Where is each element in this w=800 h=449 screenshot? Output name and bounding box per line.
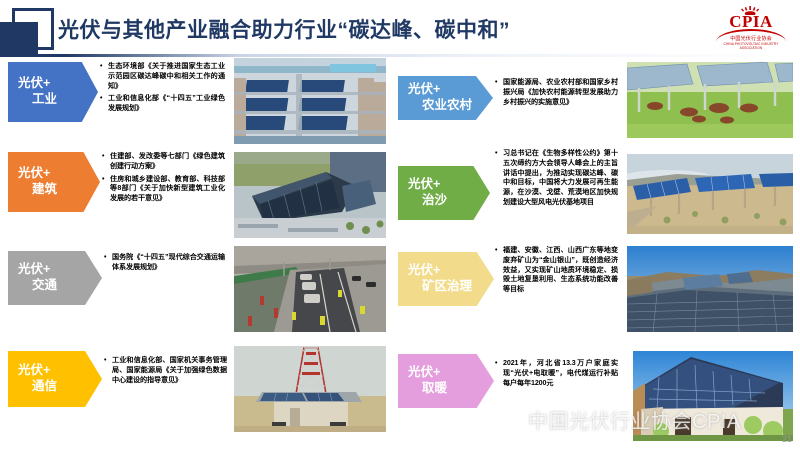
bullet-text: 国务院《“十四五”现代综合交通运输体系发展规划》 — [112, 253, 225, 273]
list-item: • 生态环境部《关于推进国家生态工业示范园区碳达峰碳中和相关工作的通知》 — [100, 62, 225, 91]
bullet-text: 住房和城乡建设部、教育部、科技部等8部门《关于加快新型建筑工业化发展的若干意见》 — [110, 175, 225, 204]
bullet-text: 生态环境部《关于推进国家生态工业示范园区碳达峰碳中和相关工作的通知》 — [108, 62, 225, 91]
chevron-label-line1: 光伏+ — [408, 365, 488, 381]
photo-mine-site-solar — [627, 246, 793, 332]
photo-agrivoltaics-cattle — [627, 62, 793, 138]
bullet-dot: • — [100, 62, 108, 72]
list-item: • 住建部、发改委等七部门《绿色建筑创建行动方案》 — [102, 152, 225, 172]
bullet-text: 习总书记在《生物多样性公约》第十五次缔约方大会领导人峰会上的主旨讲话中提出，为推… — [503, 149, 618, 208]
chevron-pv-industry[interactable]: 光伏+ 工业 — [8, 62, 98, 122]
chevron-label-line1: 光伏+ — [18, 166, 94, 182]
list-item: • 工业和信息化部、国家机关事务管理局、国家能源局《关于加强绿色数据中心建设的指… — [104, 356, 227, 385]
photo-bipv-building — [234, 152, 386, 238]
chevron-shape: 光伏+ 交通 — [8, 251, 102, 305]
bullet-dot: • — [102, 175, 110, 185]
chevron-label-line2: 通信 — [18, 379, 96, 395]
bullets-pv-agriculture: • 国家能源局、农业农村部和国家乡村振兴局《加快农村能源转型发展助力乡村振兴的实… — [495, 78, 618, 110]
photo-industrial-park-rooftop-solar — [234, 58, 386, 144]
chevron-label-line2: 治沙 — [408, 193, 484, 209]
slide-header: 光伏与其他产业融合助力行业“碳达峰、碳中和” CPIA 中国光伏行业协会 CHI… — [0, 0, 800, 56]
chevron-shape: 光伏+ 建筑 — [8, 152, 100, 212]
bullets-pv-desertification: • 习总书记在《生物多样性公约》第十五次缔约方大会领导人峰会上的主旨讲话中提出，… — [495, 149, 618, 211]
chevron-pv-agriculture[interactable]: 光伏+ 农业农村 — [398, 76, 493, 120]
bullet-dot: • — [100, 94, 108, 104]
bullet-dot: • — [495, 246, 503, 256]
bullet-dot: • — [495, 359, 503, 369]
bullet-dot: • — [104, 356, 112, 366]
bullet-dot: • — [102, 152, 110, 162]
chevron-pv-desertification[interactable]: 光伏+ 治沙 — [398, 166, 490, 220]
list-item: • 国务院《“十四五”现代综合交通运输体系发展规划》 — [104, 253, 225, 273]
chevron-shape: 光伏+ 工业 — [8, 62, 98, 122]
list-item: • 2021年，河北省13.3万户家庭实现“光伏+电取暖”，电代煤运行补贴每户每… — [495, 359, 618, 388]
chevron-label-line2: 建筑 — [18, 182, 94, 198]
chevron-label-line2: 农业农村 — [408, 98, 487, 114]
chevron-label-line1: 光伏+ — [18, 262, 96, 278]
photo-rooftop-solar-house — [633, 351, 793, 441]
bullet-dot: • — [104, 253, 112, 263]
bullet-text: 2021年，河北省13.3万户家庭实现“光伏+电取暖”，电代煤运行补贴每户每年1… — [503, 359, 618, 388]
photo-telecom-tower-solar — [234, 346, 386, 432]
chevron-pv-building[interactable]: 光伏+ 建筑 — [8, 152, 100, 212]
bullet-dot: • — [495, 78, 503, 88]
list-item: • 习总书记在《生物多样性公约》第十五次缔约方大会领导人峰会上的主旨讲话中提出，… — [495, 149, 618, 208]
bullet-text: 福建、安徽、江西、山西广东等地变废弃矿山为“金山银山”，既创造经济效益，又实现矿… — [503, 246, 618, 295]
chevron-shape: 光伏+ 矿区治理 — [398, 252, 494, 306]
chevron-label-line1: 光伏+ — [18, 76, 92, 92]
page-title: 光伏与其他产业融合助力行业“碳达峰、碳中和” — [58, 14, 510, 44]
bullets-pv-building: • 住建部、发改委等七部门《绿色建筑创建行动方案》 • 住房和城乡建设部、教育部… — [102, 152, 225, 207]
bullet-text: 工业和信息化部、国家机关事务管理局、国家能源局《关于加强绿色数据中心建设的指导意… — [112, 356, 227, 385]
chevron-label-line1: 光伏+ — [408, 177, 484, 193]
photo-desert-solar-farm — [627, 154, 793, 234]
bullets-pv-industry: • 生态环境部《关于推进国家生态工业示范园区碳达峰碳中和相关工作的通知》 • 工… — [100, 62, 225, 117]
bullets-pv-transport: • 国务院《“十四五”现代综合交通运输体系发展规划》 — [104, 253, 225, 276]
chevron-label-line2: 取暖 — [408, 381, 488, 397]
list-item: • 国家能源局、农业农村部和国家乡村振兴局《加快农村能源转型发展助力乡村振兴的实… — [495, 78, 618, 107]
page-number: 21 — [782, 434, 792, 444]
content-grid: 光伏+ 工业 • 生态环境部《关于推进国家生态工业示范园区碳达峰碳中和相关工作的… — [0, 56, 800, 449]
slide: 光伏与其他产业融合助力行业“碳达峰、碳中和” CPIA 中国光伏行业协会 CHI… — [0, 0, 800, 449]
cpia-logo: CPIA 中国光伏行业协会 CHINA PHOTOVOLTAIC INDUSTR… — [712, 6, 790, 48]
chevron-pv-mine-restoration[interactable]: 光伏+ 矿区治理 — [398, 252, 494, 306]
chevron-pv-heating[interactable]: 光伏+ 取暖 — [398, 354, 494, 408]
photo-solar-highway — [234, 246, 386, 332]
list-item: • 福建、安徽、江西、山西广东等地变废弃矿山为“金山银山”，既创造经济效益，又实… — [495, 246, 618, 295]
chevron-shape: 光伏+ 治沙 — [398, 166, 490, 220]
list-item: • 住房和城乡建设部、教育部、科技部等8部门《关于加快新型建筑工业化发展的若干意… — [102, 175, 225, 204]
bullet-dot: • — [495, 149, 503, 159]
chevron-pv-telecom[interactable]: 光伏+ 通信 — [8, 351, 102, 407]
chevron-shape: 光伏+ 通信 — [8, 351, 102, 407]
bullet-text: 工业和信息化部《“十四五”工业绿色发展规划》 — [108, 94, 225, 114]
header-outline-square — [12, 8, 54, 50]
chevron-label-line2: 交通 — [18, 278, 96, 294]
chevron-pv-transport[interactable]: 光伏+ 交通 — [8, 251, 102, 305]
bullets-pv-mine-restoration: • 福建、安徽、江西、山西广东等地变废弃矿山为“金山银山”，既创造经济效益，又实… — [495, 246, 618, 298]
chevron-label-line2: 工业 — [18, 92, 92, 108]
list-item: • 工业和信息化部《“十四五”工业绿色发展规划》 — [100, 94, 225, 114]
bullets-pv-telecom: • 工业和信息化部、国家机关事务管理局、国家能源局《关于加强绿色数据中心建设的指… — [104, 356, 227, 388]
chevron-label-line1: 光伏+ — [408, 82, 487, 98]
chevron-label-line2: 矿区治理 — [408, 279, 488, 295]
cpia-english-name: CHINA PHOTOVOLTAIC INDUSTRY ASSOCIATION — [712, 42, 790, 50]
bullets-pv-heating: • 2021年，河北省13.3万户家庭实现“光伏+电取暖”，电代煤运行补贴每户每… — [495, 359, 618, 391]
chevron-shape: 光伏+ 取暖 — [398, 354, 494, 408]
bullet-text: 住建部、发改委等七部门《绿色建筑创建行动方案》 — [110, 152, 225, 172]
bullet-text: 国家能源局、农业农村部和国家乡村振兴局《加快农村能源转型发展助力乡村振兴的实施意… — [503, 78, 618, 107]
chevron-label-line1: 光伏+ — [18, 363, 96, 379]
chevron-label-line1: 光伏+ — [408, 263, 488, 279]
chevron-shape: 光伏+ 农业农村 — [398, 76, 493, 120]
